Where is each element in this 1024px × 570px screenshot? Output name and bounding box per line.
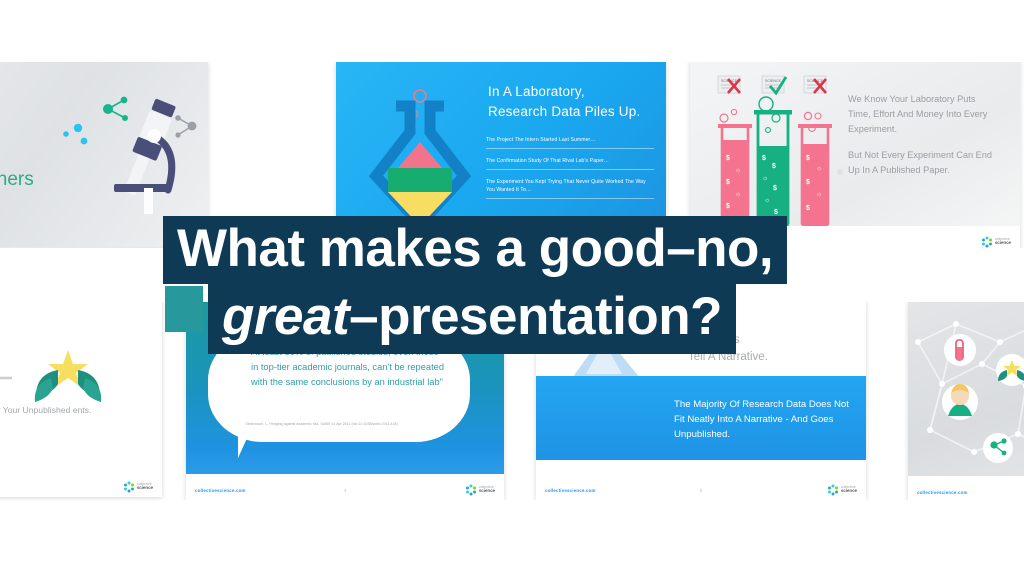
svg-text:$: $ [806,179,810,186]
slide-collage: or Researchers [0,0,1024,570]
page-number: 4 [344,488,346,493]
tubes-paragraph-1: We Know Your Laboratory Puts Time, Effor… [848,92,998,137]
plus-icon [0,364,12,392]
lab-heading-line1: In A Laboratory, [488,84,585,99]
footer-url[interactable]: collectivescience.com [917,490,968,495]
person-node [942,384,978,420]
svg-text:☼: ☼ [816,165,822,172]
slide-footer: collectivescience.com [908,476,1024,502]
logo-bottom-text: science [137,486,153,491]
quote-citation: Osherovich, L. Hedging against academic … [245,422,460,426]
molecule-node [983,433,1013,463]
svg-text:☼: ☼ [735,191,741,198]
svg-text:$: $ [726,203,730,210]
list-item: The Project The Intern Started Last Summ… [486,137,654,149]
test-tube-group-icon: SCIENCE SCIENCE SCIENCE [704,68,854,228]
svg-text:SCIENCE: SCIENCE [765,79,782,83]
svg-text:$: $ [806,205,810,212]
lab-heading: In A Laboratory, Research Data Piles Up. [488,82,640,121]
speech-bubble-tail [238,436,257,458]
bottom-margin [0,500,1024,570]
tubes-paragraph-2: But Not Every Experiment Can End Up In A… [848,148,998,178]
paper-reject-icon: SCIENCE [718,76,740,93]
network-graph-icon: $ [908,302,1024,477]
hex-molecule-icon [123,481,135,493]
tubes-copy: We Know Your Laboratory Puts Time, Effor… [848,92,998,189]
collaboration-network-slide[interactable]: $ collectivescience.com [908,302,1024,502]
slide-footer: collectivescience.com 4 collective scien… [186,474,504,500]
svg-text:$: $ [774,209,778,216]
svg-text:$: $ [806,155,810,162]
grants-recognition-slide[interactable]: $ rs You Grants And For Your Unpublished… [0,300,162,497]
svg-text:☼: ☼ [764,197,770,204]
test-tube-node [944,334,976,366]
slide-footer: collective science [0,471,162,497]
top-margin [0,0,1024,62]
list-item: The Confirmation Study Of That Rival Lab… [486,158,654,170]
svg-text:☼: ☼ [816,191,822,198]
hex-molecule-icon [465,484,477,496]
headline-line-2: great–presentation? [208,284,736,354]
svg-text:$: $ [772,163,776,170]
brand-logo: collective science [981,236,1011,248]
footer-url[interactable]: collectivescience.com [195,488,246,493]
lab-item-text: The Confirmation Study Of That Rival Lab… [486,158,654,166]
logo-bottom-text: science [841,489,857,494]
svg-text:$: $ [762,155,766,162]
logo-bottom-text: science [479,489,495,494]
intro-title-line2: Researchers [0,169,34,191]
teal-accent-block [165,286,203,332]
svg-text:$: $ [773,185,777,192]
list-item: The Experiment You Kept Trying That Neve… [486,179,654,199]
laurel-star-icon [35,350,101,402]
brand-logo: collective science [123,481,153,493]
lab-item-list: The Project The Intern Started Last Summ… [486,137,654,208]
logo-bottom-text: science [995,241,1011,246]
hex-molecule-icon [827,484,839,496]
svg-text:☼: ☼ [735,167,741,174]
footer-url[interactable]: collectivescience.com [545,488,596,493]
iceberg-band-text: The Majority Of Research Data Does Not F… [674,398,858,443]
page-number: 5 [700,488,702,493]
lab-item-text: The Experiment You Kept Trying That Neve… [486,179,654,195]
svg-text:☼: ☼ [762,175,768,182]
brand-logo: collective science [465,484,495,496]
iceberg-band: The Majority Of Research Data Does Not F… [536,376,866,460]
slide-footer: collectivescience.com 5 collective scien… [536,474,866,500]
hex-molecule-icon [981,236,993,248]
svg-text:$: $ [726,179,730,186]
headline-emphasis: great [222,287,349,346]
lab-heading-line2: Research Data Piles Up. [488,104,640,119]
svg-text:$: $ [726,155,730,162]
headline-line-1: What makes a good–no, [163,216,787,284]
paper-accept-icon: SCIENCE [762,76,786,93]
brand-logo: collective science [827,484,857,496]
microscope-icon [58,84,208,219]
paper-reject-icon: SCIENCE [804,76,826,93]
grants-copy: rs You Grants And For Your Unpublished e… [0,404,141,418]
headline-rest: –presentation? [349,287,722,346]
laurel-star-node [996,354,1024,386]
lab-item-text: The Project The Intern Started Last Summ… [486,137,654,145]
